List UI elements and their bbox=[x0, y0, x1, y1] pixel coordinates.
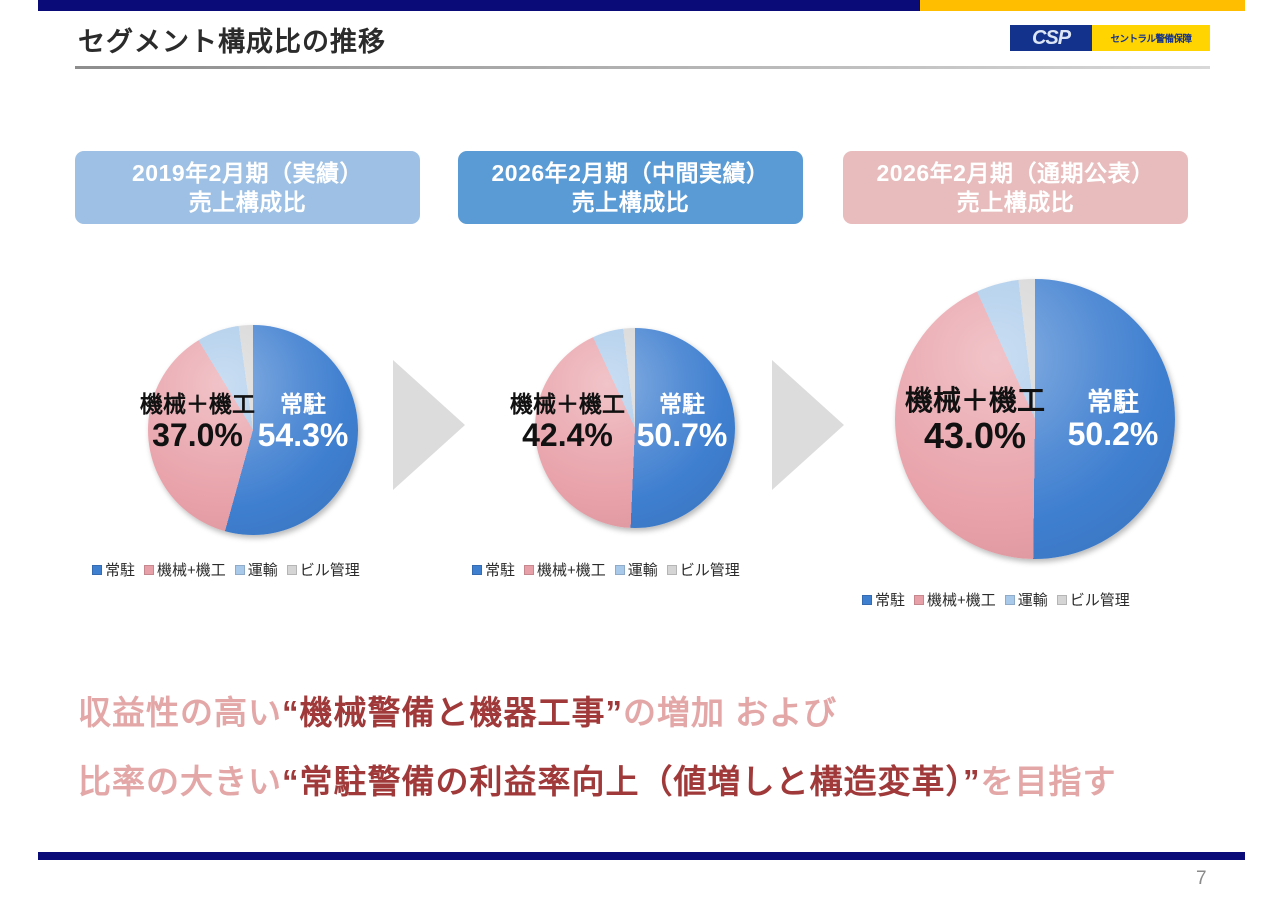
panel-header-line2: 売上構成比 bbox=[189, 188, 307, 217]
pie-label-joshu: 常駐 50.7% bbox=[634, 392, 730, 454]
pie-label-joshu-value: 54.3% bbox=[255, 418, 351, 454]
legend-item: 常駐 bbox=[472, 559, 515, 580]
pie-label-joshu-value: 50.7% bbox=[634, 418, 730, 454]
legend-item: 機械+機工 bbox=[144, 559, 226, 580]
legend-label: 運輸 bbox=[248, 559, 278, 580]
panel-header-line1: 2019年2月期（実績） bbox=[132, 159, 363, 188]
pie-legend: 常駐機械+機工運輸ビル管理 bbox=[862, 589, 1130, 610]
legend-label: ビル管理 bbox=[300, 559, 360, 580]
pie-label-kikai: 機械＋機工 43.0% bbox=[890, 385, 1060, 457]
legend-swatch-icon bbox=[1057, 595, 1067, 605]
title-divider bbox=[75, 66, 1210, 69]
legend-label: 機械+機工 bbox=[157, 559, 226, 580]
legend-label: 常駐 bbox=[485, 559, 515, 580]
legend-item: 機械+機工 bbox=[524, 559, 606, 580]
logo-wordmark: セントラル警備保障 bbox=[1092, 25, 1210, 51]
pie-label-joshu-value: 50.2% bbox=[1058, 417, 1168, 453]
pie-label-joshu: 常駐 54.3% bbox=[255, 392, 351, 454]
progress-arrow-icon bbox=[772, 360, 844, 490]
legend-label: ビル管理 bbox=[680, 559, 740, 580]
legend-item: 常駐 bbox=[92, 559, 135, 580]
panel-header-2026-full: 2026年2月期（通期公表） 売上構成比 bbox=[843, 151, 1188, 224]
top-accent-bar-navy bbox=[38, 0, 920, 11]
legend-label: 運輸 bbox=[1018, 589, 1048, 610]
legend-swatch-icon bbox=[92, 565, 102, 575]
pie-label-joshu-name: 常駐 bbox=[1058, 388, 1168, 417]
summary-message-line-1: 収益性の高い“機械警備と機器工事”の増加 および bbox=[78, 686, 837, 734]
legend-swatch-icon bbox=[287, 565, 297, 575]
panel-header-line2: 売上構成比 bbox=[957, 188, 1075, 217]
legend-swatch-icon bbox=[914, 595, 924, 605]
legend-label: 機械+機工 bbox=[927, 589, 996, 610]
message-2-part-c: を目指す bbox=[981, 763, 1117, 800]
pie-label-kikai-value: 37.0% bbox=[125, 418, 270, 454]
legend-label: 常駐 bbox=[875, 589, 905, 610]
panel-header-2026-interim: 2026年2月期（中間実績） 売上構成比 bbox=[458, 151, 803, 224]
legend-item: ビル管理 bbox=[1057, 589, 1130, 610]
panel-header-line1: 2026年2月期（中間実績） bbox=[492, 159, 770, 188]
legend-item: 常駐 bbox=[862, 589, 905, 610]
legend-label: 運輸 bbox=[628, 559, 658, 580]
legend-swatch-icon bbox=[862, 595, 872, 605]
page-title: セグメント構成比の推移 bbox=[78, 20, 386, 59]
message-1-part-a: 収益性の高い bbox=[78, 694, 282, 731]
pie-label-joshu-name: 常駐 bbox=[634, 392, 730, 418]
legend-item: 運輸 bbox=[235, 559, 278, 580]
pie-label-kikai-value: 42.4% bbox=[495, 418, 640, 454]
company-logo: CSP セントラル警備保障 bbox=[1010, 25, 1210, 51]
legend-swatch-icon bbox=[524, 565, 534, 575]
progress-arrow-icon bbox=[393, 360, 465, 490]
message-2-part-a: 比率の大きい bbox=[78, 763, 282, 800]
pie-label-joshu: 常駐 50.2% bbox=[1058, 388, 1168, 453]
legend-label: 常駐 bbox=[105, 559, 135, 580]
message-1-part-b: “機械警備と機器工事” bbox=[282, 694, 623, 731]
pie-legend: 常駐機械+機工運輸ビル管理 bbox=[472, 559, 740, 580]
pie-label-kikai-name: 機械＋機工 bbox=[495, 392, 640, 418]
pie-label-kikai-value: 43.0% bbox=[890, 416, 1060, 456]
panel-header-line1: 2026年2月期（通期公表） bbox=[877, 159, 1155, 188]
pie-legend: 常駐機械+機工運輸ビル管理 bbox=[92, 559, 360, 580]
legend-swatch-icon bbox=[472, 565, 482, 575]
legend-item: 機械+機工 bbox=[914, 589, 996, 610]
top-accent-bar-yellow bbox=[920, 0, 1245, 11]
legend-swatch-icon bbox=[667, 565, 677, 575]
panel-header-2019: 2019年2月期（実績） 売上構成比 bbox=[75, 151, 420, 224]
legend-item: 運輸 bbox=[615, 559, 658, 580]
message-1-part-c: の増加 および bbox=[623, 694, 837, 731]
legend-swatch-icon bbox=[144, 565, 154, 575]
logo-mark-csp: CSP bbox=[1010, 25, 1092, 51]
legend-swatch-icon bbox=[615, 565, 625, 575]
legend-label: ビル管理 bbox=[1070, 589, 1130, 610]
pie-label-joshu-name: 常駐 bbox=[255, 392, 351, 418]
pie-label-kikai: 機械＋機工 42.4% bbox=[495, 392, 640, 454]
legend-item: 運輸 bbox=[1005, 589, 1048, 610]
summary-message-line-2: 比率の大きい“常駐警備の利益率向上（値増しと構造変革）”を目指す bbox=[78, 755, 1117, 803]
bottom-accent-bar bbox=[38, 852, 1245, 860]
legend-swatch-icon bbox=[235, 565, 245, 575]
panel-header-line2: 売上構成比 bbox=[572, 188, 690, 217]
message-2-part-b: “常駐警備の利益率向上（値増しと構造変革）” bbox=[282, 763, 981, 800]
legend-item: ビル管理 bbox=[287, 559, 360, 580]
legend-swatch-icon bbox=[1005, 595, 1015, 605]
page-number: 7 bbox=[1196, 868, 1207, 890]
legend-item: ビル管理 bbox=[667, 559, 740, 580]
legend-label: 機械+機工 bbox=[537, 559, 606, 580]
pie-label-kikai-name: 機械＋機工 bbox=[890, 385, 1060, 416]
pie-label-kikai-name: 機械＋機工 bbox=[125, 392, 270, 418]
pie-label-kikai: 機械＋機工 37.0% bbox=[125, 392, 270, 454]
